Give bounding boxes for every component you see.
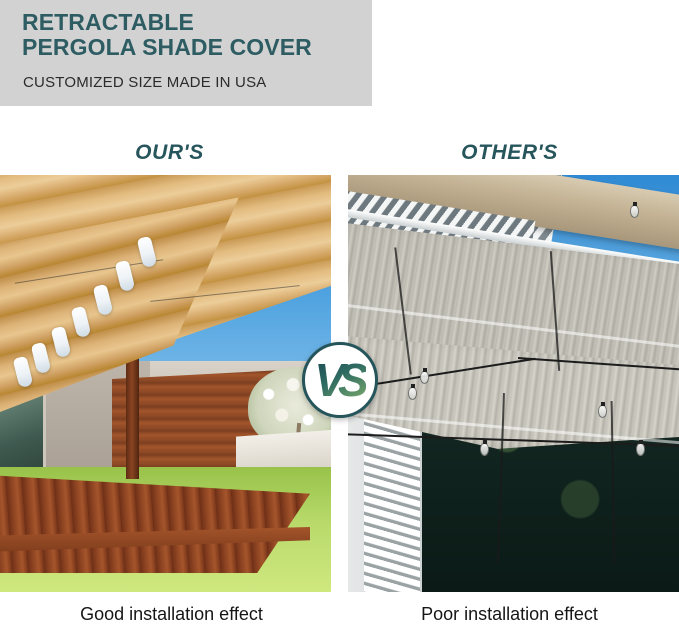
photo-good-installation — [0, 175, 331, 592]
caption-good: Good installation effect — [2, 604, 341, 625]
light-bulb — [598, 405, 607, 418]
column-label-others: OTHER'S — [340, 141, 679, 165]
vs-badge: VS — [302, 342, 378, 418]
scene-good — [0, 175, 331, 592]
page-title-line-2: PERGOLA SHADE COVER — [22, 35, 366, 60]
column-label-ours: OUR'S — [0, 141, 339, 165]
pergola-post — [126, 351, 139, 479]
header-band: RETRACTABLE PERGOLA SHADE COVER CUSTOMIZ… — [0, 0, 372, 106]
light-bulb — [480, 443, 489, 456]
light-bulb — [630, 205, 639, 218]
vs-label: VS — [314, 357, 365, 403]
louvered-shutters — [364, 405, 420, 592]
scene-poor — [348, 175, 679, 592]
light-bulb — [408, 387, 417, 400]
page-title-line-1: RETRACTABLE — [22, 9, 194, 35]
light-bulb — [636, 443, 645, 456]
page-title: RETRACTABLE PERGOLA SHADE COVER — [22, 10, 366, 60]
photo-poor-installation — [348, 175, 679, 592]
page-subtitle: CUSTOMIZED SIZE MADE IN USA — [23, 74, 266, 91]
caption-poor: Poor installation effect — [340, 604, 679, 625]
light-bulb — [420, 371, 429, 384]
